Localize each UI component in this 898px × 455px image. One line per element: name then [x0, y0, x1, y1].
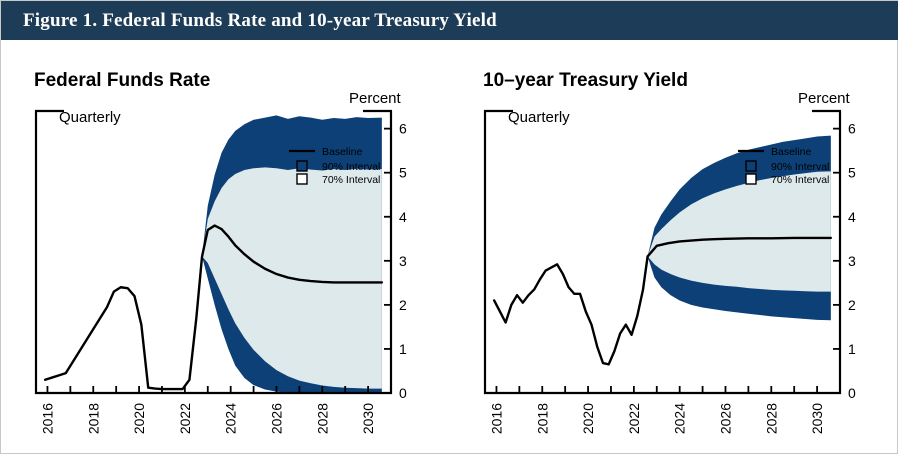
chart-canvas-federal-funds-rate: 012345620162018202020222024202620282030B… — [1, 40, 450, 455]
y-tick-label: 5 — [399, 165, 407, 181]
x-tick-label: 2030 — [360, 403, 376, 434]
legend-marker-90-interval — [746, 161, 756, 171]
y-tick-label: 5 — [848, 165, 856, 181]
x-tick-label: 2026 — [269, 403, 285, 434]
x-tick-label: 2024 — [672, 403, 688, 434]
x-tick-label: 2018 — [85, 403, 101, 434]
band-70 — [648, 171, 831, 291]
y-tick-label: 3 — [848, 253, 856, 269]
chart-canvas-ten-year-treasury-yield: 012345620162018202020222024202620282030B… — [450, 40, 898, 455]
y-tick-label: 2 — [399, 297, 407, 313]
y-tick-label: 2 — [848, 297, 856, 313]
figure-title-bar: Figure 1. Federal Funds Rate and 10-year… — [1, 1, 898, 40]
panel-ten-year-treasury-yield: 10–year Treasury Yield Percent Quarterly… — [450, 40, 898, 455]
x-tick-label: 2020 — [580, 403, 596, 434]
y-tick-label: 1 — [848, 341, 856, 357]
legend-label-baseline: Baseline — [322, 146, 362, 158]
legend-label-70-interval: 70% Interval — [771, 174, 829, 186]
y-tick-label: 1 — [399, 341, 407, 357]
x-tick-label: 2018 — [534, 403, 550, 434]
legend-marker-70-interval — [746, 174, 756, 184]
x-tick-label: 2030 — [809, 403, 825, 434]
x-tick-label: 2016 — [40, 403, 56, 434]
y-tick-label: 0 — [399, 385, 407, 401]
y-tick-label: 6 — [848, 121, 856, 137]
x-tick-label: 2022 — [626, 403, 642, 434]
legend-marker-90-interval — [297, 161, 307, 171]
y-tick-label: 6 — [399, 121, 407, 137]
x-tick-label: 2020 — [131, 403, 147, 434]
x-tick-label: 2026 — [718, 403, 734, 434]
x-tick-label: 2024 — [223, 403, 239, 434]
x-tick-label: 2022 — [177, 403, 193, 434]
panel-federal-funds-rate: Federal Funds Rate Percent Quarterly 012… — [1, 40, 450, 455]
figure-title: Figure 1. Federal Funds Rate and 10-year… — [23, 10, 497, 32]
legend-label-90-interval: 90% Interval — [771, 161, 829, 173]
legend-label-baseline: Baseline — [771, 146, 811, 158]
y-tick-label: 3 — [399, 253, 407, 269]
y-tick-label: 4 — [848, 209, 856, 225]
x-tick-label: 2028 — [763, 403, 779, 434]
y-tick-label: 4 — [399, 209, 407, 225]
legend-label-70-interval: 70% Interval — [322, 174, 380, 186]
legend-label-90-interval: 90% Interval — [322, 161, 380, 173]
legend-marker-70-interval — [297, 174, 307, 184]
figure-root: Figure 1. Federal Funds Rate and 10-year… — [0, 0, 898, 454]
x-tick-label: 2028 — [314, 403, 330, 434]
x-tick-label: 2016 — [489, 403, 505, 434]
y-tick-label: 0 — [848, 385, 856, 401]
